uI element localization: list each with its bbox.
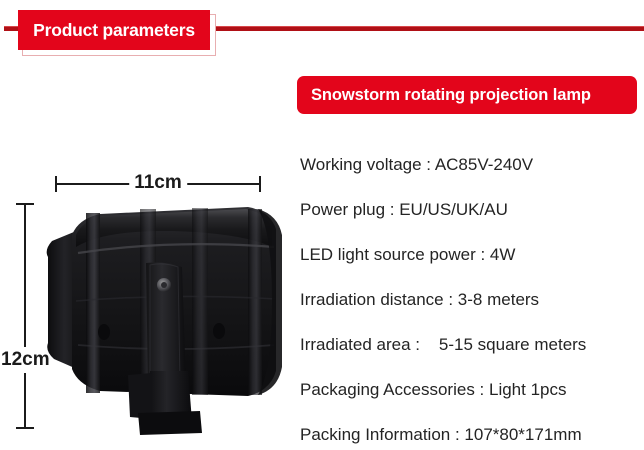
spec-row: Power plug : EU/US/UK/AU	[300, 187, 644, 232]
spec-row: Packing Information : 107*80*171mm	[300, 412, 644, 450]
lamp-rib	[86, 213, 100, 393]
product-title-label: Snowstorm rotating projection lamp	[311, 86, 591, 105]
lamp-rib	[248, 209, 262, 395]
spec-row: Packaging Accessories : Light 1pcs	[300, 367, 644, 412]
width-dimension-cap-left	[55, 176, 57, 192]
product-parameters-page: Product parameters Snowstorm rotating pr…	[0, 0, 644, 450]
spec-row: Irradiated area : 5-15 square meters	[300, 322, 644, 367]
section-header-label: Product parameters	[33, 20, 195, 41]
width-dimension-indicator: 11cm	[55, 172, 261, 194]
spec-row: LED light source power : 4W	[300, 232, 644, 277]
lamp-bolt-boss	[98, 324, 110, 340]
spec-row: Working voltage : AC85V-240V	[300, 142, 644, 187]
adjustment-screw-slot	[161, 282, 167, 288]
width-dimension-cap-right	[259, 176, 261, 192]
spec-row: Irradiation distance : 3-8 meters	[300, 277, 644, 322]
height-dimension-cap-top	[16, 203, 34, 205]
lamp-base-plate	[128, 373, 152, 419]
lamp-rib	[192, 208, 208, 395]
section-header-badge: Product parameters	[18, 10, 210, 50]
product-title-pill: Snowstorm rotating projection lamp	[297, 76, 637, 114]
width-dimension-label: 11cm	[129, 172, 187, 194]
lamp-base-foot	[138, 411, 202, 435]
height-dimension-indicator: 12cm	[14, 203, 36, 429]
product-photo-projection-lamp	[42, 195, 288, 440]
lamp-bolt-boss	[213, 323, 225, 339]
height-dimension-cap-bottom	[16, 427, 34, 429]
height-dimension-line	[24, 203, 26, 429]
spec-list: Working voltage : AC85V-240V Power plug …	[300, 142, 644, 450]
